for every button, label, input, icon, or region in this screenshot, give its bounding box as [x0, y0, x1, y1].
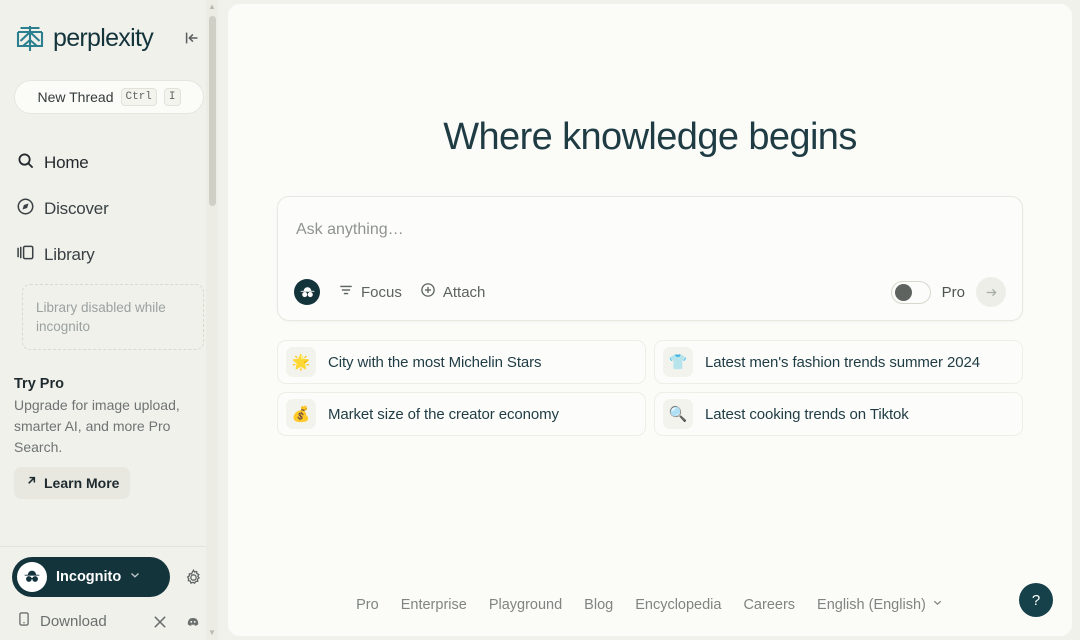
footer-link-pro[interactable]: Pro [356, 597, 379, 613]
social-links [152, 613, 202, 631]
suggestion-label: Latest men's fashion trends summer 2024 [705, 354, 980, 371]
shortcut-letter-key: I [164, 88, 181, 106]
suggestion-card[interactable]: 💰 Market size of the creator economy [277, 392, 646, 436]
try-pro-description: Upgrade for image upload, smarter AI, an… [14, 395, 204, 458]
help-button[interactable]: ? [1019, 583, 1053, 617]
ask-toolbar-right: Pro [891, 277, 1006, 307]
primary-nav: Home Discover [0, 140, 218, 278]
footer-link-encyclopedia[interactable]: Encyclopedia [635, 597, 721, 613]
focus-button[interactable]: Focus [338, 282, 402, 303]
try-pro-title: Try Pro [14, 376, 204, 392]
search-icon [16, 151, 35, 175]
focus-lines-icon [338, 282, 354, 303]
magnifying-glass-emoji: 🔍 [663, 399, 693, 429]
download-label: Download [40, 613, 107, 630]
try-pro-section: Try Pro Upgrade for image upload, smarte… [14, 376, 204, 499]
sidebar-item-home-label: Home [44, 153, 89, 173]
sidebar-item-library-label: Library [44, 245, 95, 265]
new-thread-button[interactable]: New Thread Ctrl I [14, 80, 204, 114]
suggestion-card[interactable]: 👕 Latest men's fashion trends summer 202… [654, 340, 1023, 384]
language-label: English (English) [817, 597, 926, 613]
suggestion-label: Latest cooking trends on Tiktok [705, 406, 909, 423]
footer-link-playground[interactable]: Playground [489, 597, 562, 613]
library-icon [16, 243, 35, 267]
ask-anything-box[interactable]: Ask anything… Focus [277, 196, 1023, 321]
language-selector[interactable]: English (English) [817, 596, 944, 614]
perplexity-app-window: perplexity New Thread Ctrl I [0, 0, 1080, 640]
suggestion-label: Market size of the creator economy [328, 406, 559, 423]
x-twitter-icon[interactable] [152, 614, 168, 630]
compass-icon [16, 197, 35, 221]
scrollbar-thumb[interactable] [209, 16, 216, 206]
footer-link-careers[interactable]: Careers [743, 597, 795, 613]
sidebar: perplexity New Thread Ctrl I [0, 0, 218, 640]
t-shirt-emoji: 👕 [663, 347, 693, 377]
brand-row: perplexity [0, 0, 218, 58]
footer-link-blog[interactable]: Blog [584, 597, 613, 613]
incognito-avatar-icon [17, 562, 47, 592]
sidebar-item-discover-label: Discover [44, 199, 109, 219]
pro-toggle[interactable] [891, 281, 931, 304]
sidebar-footer: Incognito [0, 546, 218, 640]
chevron-down-icon [931, 596, 944, 614]
perplexity-logo-icon [14, 22, 46, 54]
discord-icon[interactable] [184, 613, 202, 631]
sidebar-item-discover[interactable]: Discover [0, 186, 218, 232]
pro-toggle-label: Pro [942, 284, 965, 301]
footer-link-enterprise[interactable]: Enterprise [401, 597, 467, 613]
sidebar-item-home[interactable]: Home [0, 140, 218, 186]
account-label: Incognito [56, 569, 121, 585]
collapse-sidebar-icon[interactable] [180, 26, 204, 50]
incognito-avatar-icon[interactable] [294, 279, 320, 305]
suggestion-cards: 🌟 City with the most Michelin Stars 👕 La… [277, 340, 1023, 436]
attach-button[interactable]: Attach [420, 282, 486, 303]
main-panel: Where knowledge begins Ask anything… [228, 4, 1072, 636]
suggestion-card[interactable]: 🌟 City with the most Michelin Stars [277, 340, 646, 384]
scroll-down-icon[interactable]: ▼ [208, 628, 216, 638]
chevron-down-icon [128, 568, 142, 587]
pro-toggle-knob [895, 284, 912, 301]
brand-name: perplexity [53, 24, 153, 53]
attach-label: Attach [443, 284, 486, 301]
footer-links-row: Download [12, 611, 206, 632]
arrow-up-right-icon [25, 474, 38, 492]
ask-input-placeholder[interactable]: Ask anything… [296, 221, 404, 239]
page-title: Where knowledge begins [228, 116, 1072, 159]
mobile-phone-icon [16, 611, 32, 632]
learn-more-label: Learn More [44, 475, 119, 491]
glowing-star-emoji: 🌟 [286, 347, 316, 377]
ask-toolbar: Focus Attach Pro [278, 264, 1022, 320]
account-row: Incognito [12, 557, 206, 597]
plus-circle-icon [420, 282, 436, 303]
submit-button[interactable] [976, 277, 1006, 307]
sidebar-item-library[interactable]: Library [0, 232, 218, 278]
learn-more-button[interactable]: Learn More [14, 467, 130, 499]
new-thread-label: New Thread [37, 89, 113, 105]
library-disabled-notice: Library disabled while incognito [22, 284, 204, 350]
sidebar-scrollbar[interactable]: ▲ ▼ [206, 0, 218, 640]
gear-icon[interactable] [180, 564, 206, 590]
suggestion-card[interactable]: 🔍 Latest cooking trends on Tiktok [654, 392, 1023, 436]
money-bag-emoji: 💰 [286, 399, 316, 429]
shortcut-modifier-key: Ctrl [121, 88, 157, 106]
scroll-up-icon[interactable]: ▲ [208, 2, 216, 12]
main-footer: Pro Enterprise Playground Blog Encyclope… [228, 596, 1072, 614]
suggestion-label: City with the most Michelin Stars [328, 354, 541, 371]
download-button[interactable]: Download [16, 611, 107, 632]
account-incognito-button[interactable]: Incognito [12, 557, 170, 597]
focus-label: Focus [361, 284, 402, 301]
